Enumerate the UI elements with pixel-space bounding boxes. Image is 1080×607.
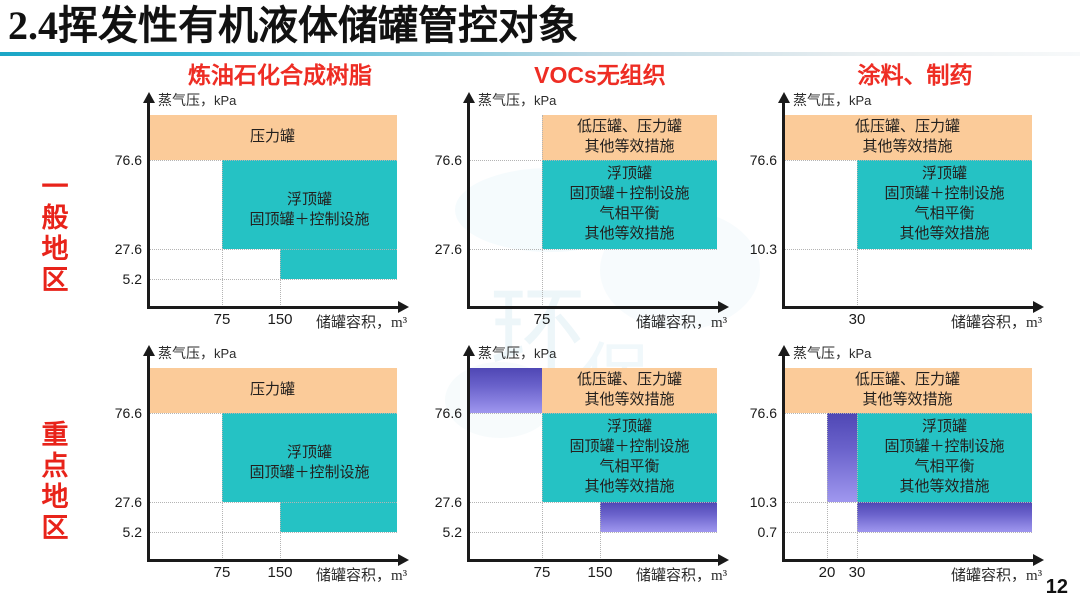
y-axis-label-text: 蒸气压， [793,347,849,362]
gridline-v [600,502,601,560]
region-label-line: 固顶罐＋控制设施 [857,437,1032,457]
x-tick: 75 [522,311,562,328]
region-label-line: 压力罐 [148,127,397,147]
region-label-line: 浮顶罐 [857,417,1032,437]
region-label-line: 其他等效措施 [783,390,1032,410]
y-axis-unit: kPa [214,93,236,108]
plot-area: 低压罐、压力罐 其他等效措施 浮顶罐 固顶罐＋控制设施 气相平衡 其他等效措施 … [765,62,1065,322]
region-label-line: 固顶罐＋控制设施 [857,184,1032,204]
x-tick: 30 [837,564,877,581]
y-tick: 76.6 [418,405,462,421]
y-tick: 27.6 [418,494,462,510]
region-label-line: 低压罐、压力罐 [542,370,717,390]
region-floating-roof: 浮顶罐 固顶罐＋控制设施 气相平衡 其他等效措施 [542,413,717,502]
region-floating-roof: 浮顶罐 固顶罐＋控制设施 气相平衡 其他等效措施 [857,413,1032,502]
gridline-v [542,115,543,307]
gridline-h [148,249,397,250]
region-label-line: 气相平衡 [542,457,717,477]
plot-area: 压力罐 浮顶罐 固顶罐＋控制设施 蒸气压，kPa 储罐容积，m³ 76.6 27… [130,62,430,322]
y-tick: 76.6 [733,152,777,168]
gridline-v [542,413,543,560]
y-axis [782,102,785,309]
region-label-line: 其他等效措施 [542,137,717,157]
row-label-char: 区 [32,265,78,296]
gridline-h [783,249,1032,250]
region-floating-roof: 浮顶罐 固顶罐＋控制设施 [222,413,397,502]
region-label-line: 固顶罐＋控制设施 [542,437,717,457]
row-label-char: 般 [32,203,78,234]
y-axis-label: 蒸气压，kPa [793,343,871,363]
x-tick: 150 [260,311,300,328]
gridline-v [857,413,858,560]
plot-area: 压力罐 浮顶罐 固顶罐＋控制设施 蒸气压，kPa 储罐容积，m³ 76.6 27… [130,330,430,590]
y-axis-label-text: 蒸气压， [478,347,534,362]
gridline-h [468,413,717,414]
y-axis-unit: kPa [849,346,871,361]
gridline-h [468,502,717,503]
x-axis [147,306,400,309]
y-axis-label-text: 蒸气压， [478,94,534,109]
title-divider [0,52,1080,56]
plot-area: 低压罐、压力罐 其他等效措施 浮顶罐 固顶罐＋控制设施 气相平衡 其他等效措施 … [450,62,750,322]
x-axis-label: 储罐容积，m³ [316,564,407,585]
page-title: 2.4挥发性有机液体储罐管控对象 [8,2,578,50]
x-axis [782,559,1035,562]
x-axis-label: 储罐容积，m³ [636,564,727,585]
page-number: 12 [1046,576,1068,599]
x-axis-label: 储罐容积，m³ [951,564,1042,585]
y-axis [467,355,470,562]
y-axis-label: 蒸气压，kPa [478,90,556,110]
x-axis-label: 储罐容积，m³ [316,311,407,332]
x-tick: 30 [837,311,877,328]
row-label-general: 一 般 地 区 [32,172,78,296]
region-label-line: 其他等效措施 [542,390,717,410]
row-label-char: 地 [32,482,78,513]
row-label-char: 重 [32,420,78,451]
y-axis-label-text: 蒸气压， [158,94,214,109]
region-label-line: 其他等效措施 [542,477,717,497]
y-tick: 27.6 [98,241,142,257]
y-tick: 5.2 [98,271,142,287]
x-axis [782,306,1035,309]
y-axis-label: 蒸气压，kPa [478,343,556,363]
gridline-v [827,413,828,560]
x-tick: 75 [202,564,242,581]
region-label-line: 其他等效措施 [783,137,1032,157]
x-tick: 150 [580,564,620,581]
x-axis-label: 储罐容积，m³ [951,311,1042,332]
plot-area: 低压罐、压力罐 其他等效措施 浮顶罐 固顶罐＋控制设施 气相平衡 其他等效措施 … [765,330,1065,590]
y-axis [782,355,785,562]
y-axis [147,355,150,562]
region-floating-roof-lower [280,502,397,532]
gridline-h [468,249,717,250]
y-tick: 76.6 [98,405,142,421]
y-axis-unit: kPa [534,346,556,361]
x-tick: 150 [260,564,300,581]
x-axis-label: 储罐容积，m³ [636,311,727,332]
x-tick: 75 [522,564,562,581]
y-tick: 5.2 [418,524,462,540]
region-label-line: 低压罐、压力罐 [542,117,717,137]
region-floating-roof: 浮顶罐 固顶罐＋控制设施 [222,160,397,249]
region-extended-control-column [827,413,857,502]
y-axis-label: 蒸气压，kPa [158,90,236,110]
chart-key-vocs: 低压罐、压力罐 其他等效措施 浮顶罐 固顶罐＋控制设施 气相平衡 其他等效措施 … [450,330,750,590]
gridline-v [222,413,223,560]
region-label-line: 气相平衡 [857,204,1032,224]
region-label-line: 气相平衡 [542,204,717,224]
region-extended-control-upper-left [468,368,542,413]
region-label-line: 浮顶罐 [222,443,397,463]
y-tick: 27.6 [98,494,142,510]
x-tick: 75 [202,311,242,328]
chart-general-vocs: VOCs无组织 低压罐、压力罐 其他等效措施 浮顶罐 固顶罐＋控制设施 气相平衡… [450,62,750,322]
y-tick: 0.7 [733,524,777,540]
region-label-line: 浮顶罐 [542,164,717,184]
gridline-v [280,502,281,560]
region-pressure-tank: 压力罐 [148,115,397,160]
row-label-char: 点 [32,451,78,482]
region-label-line: 浮顶罐 [222,190,397,210]
y-axis-unit: kPa [214,346,236,361]
row-label-key: 重 点 地 区 [32,420,78,544]
region-label-line: 压力罐 [148,380,397,400]
y-tick: 27.6 [418,241,462,257]
region-lowpressure-pressure-tank: 低压罐、压力罐 其他等效措施 [542,115,717,160]
region-extended-control-bottom [857,502,1032,532]
region-label-line: 固顶罐＋控制设施 [222,210,397,230]
chart-general-refining: 炼油石化合成树脂 压力罐 浮顶罐 固顶罐＋控制设施 蒸气压，kPa 储罐容积，m… [130,62,430,322]
y-axis-label: 蒸气压，kPa [793,90,871,110]
plot-area: 低压罐、压力罐 其他等效措施 浮顶罐 固顶罐＋控制设施 气相平衡 其他等效措施 … [450,330,750,590]
region-label-line: 其他等效措施 [857,477,1032,497]
y-tick: 10.3 [733,494,777,510]
y-axis [467,102,470,309]
region-lowpressure-pressure-tank: 低压罐、压力罐 其他等效措施 [542,368,717,413]
region-lowpressure-pressure-tank: 低压罐、压力罐 其他等效措施 [783,368,1032,413]
region-floating-roof: 浮顶罐 固顶罐＋控制设施 气相平衡 其他等效措施 [857,160,1032,249]
chart-key-refining: 压力罐 浮顶罐 固顶罐＋控制设施 蒸气压，kPa 储罐容积，m³ 76.6 27… [130,330,430,590]
gridline-h [783,502,1032,503]
x-axis [467,306,720,309]
gridline-h [148,502,397,503]
region-extended-control-lower-right [600,502,717,532]
gridline-h [148,413,397,414]
y-axis-label: 蒸气压，kPa [158,343,236,363]
region-label-line: 固顶罐＋控制设施 [542,184,717,204]
y-tick: 76.6 [98,152,142,168]
y-tick: 76.6 [733,405,777,421]
row-label-char: 区 [32,513,78,544]
y-tick: 76.6 [418,152,462,168]
region-label-line: 浮顶罐 [542,417,717,437]
y-axis-label-text: 蒸气压， [793,94,849,109]
region-floating-roof-lower [280,249,397,279]
gridline-h [148,279,397,280]
region-lowpressure-pressure-tank: 低压罐、压力罐 其他等效措施 [783,115,1032,160]
gridline-v [222,160,223,307]
y-axis-label-text: 蒸气压， [158,347,214,362]
region-label-line: 其他等效措施 [542,224,717,244]
gridline-h [148,160,397,161]
chart-general-coating: 涂料、制药 低压罐、压力罐 其他等效措施 浮顶罐 固顶罐＋控制设施 气相平衡 其… [765,62,1065,322]
y-axis-unit: kPa [849,93,871,108]
y-tick: 5.2 [98,524,142,540]
chart-key-coating: 低压罐、压力罐 其他等效措施 浮顶罐 固顶罐＋控制设施 气相平衡 其他等效措施 … [765,330,1065,590]
x-axis [467,559,720,562]
y-axis [147,102,150,309]
gridline-h [783,413,1032,414]
region-label-line: 低压罐、压力罐 [783,117,1032,137]
region-label-line: 低压罐、压力罐 [783,370,1032,390]
region-label-line: 其他等效措施 [857,224,1032,244]
region-floating-roof: 浮顶罐 固顶罐＋控制设施 气相平衡 其他等效措施 [542,160,717,249]
gridline-v [280,249,281,307]
y-axis-unit: kPa [534,93,556,108]
x-axis [147,559,400,562]
region-label-line: 浮顶罐 [857,164,1032,184]
gridline-v [857,160,858,307]
gridline-h [468,532,717,533]
region-label-line: 气相平衡 [857,457,1032,477]
region-pressure-tank: 压力罐 [148,368,397,413]
gridline-h [148,532,397,533]
row-label-char: 一 [32,172,78,203]
gridline-h [468,160,717,161]
row-label-char: 地 [32,234,78,265]
region-label-line: 固顶罐＋控制设施 [222,463,397,483]
y-tick: 10.3 [733,241,777,257]
gridline-h [783,532,1032,533]
gridline-h [783,160,1032,161]
